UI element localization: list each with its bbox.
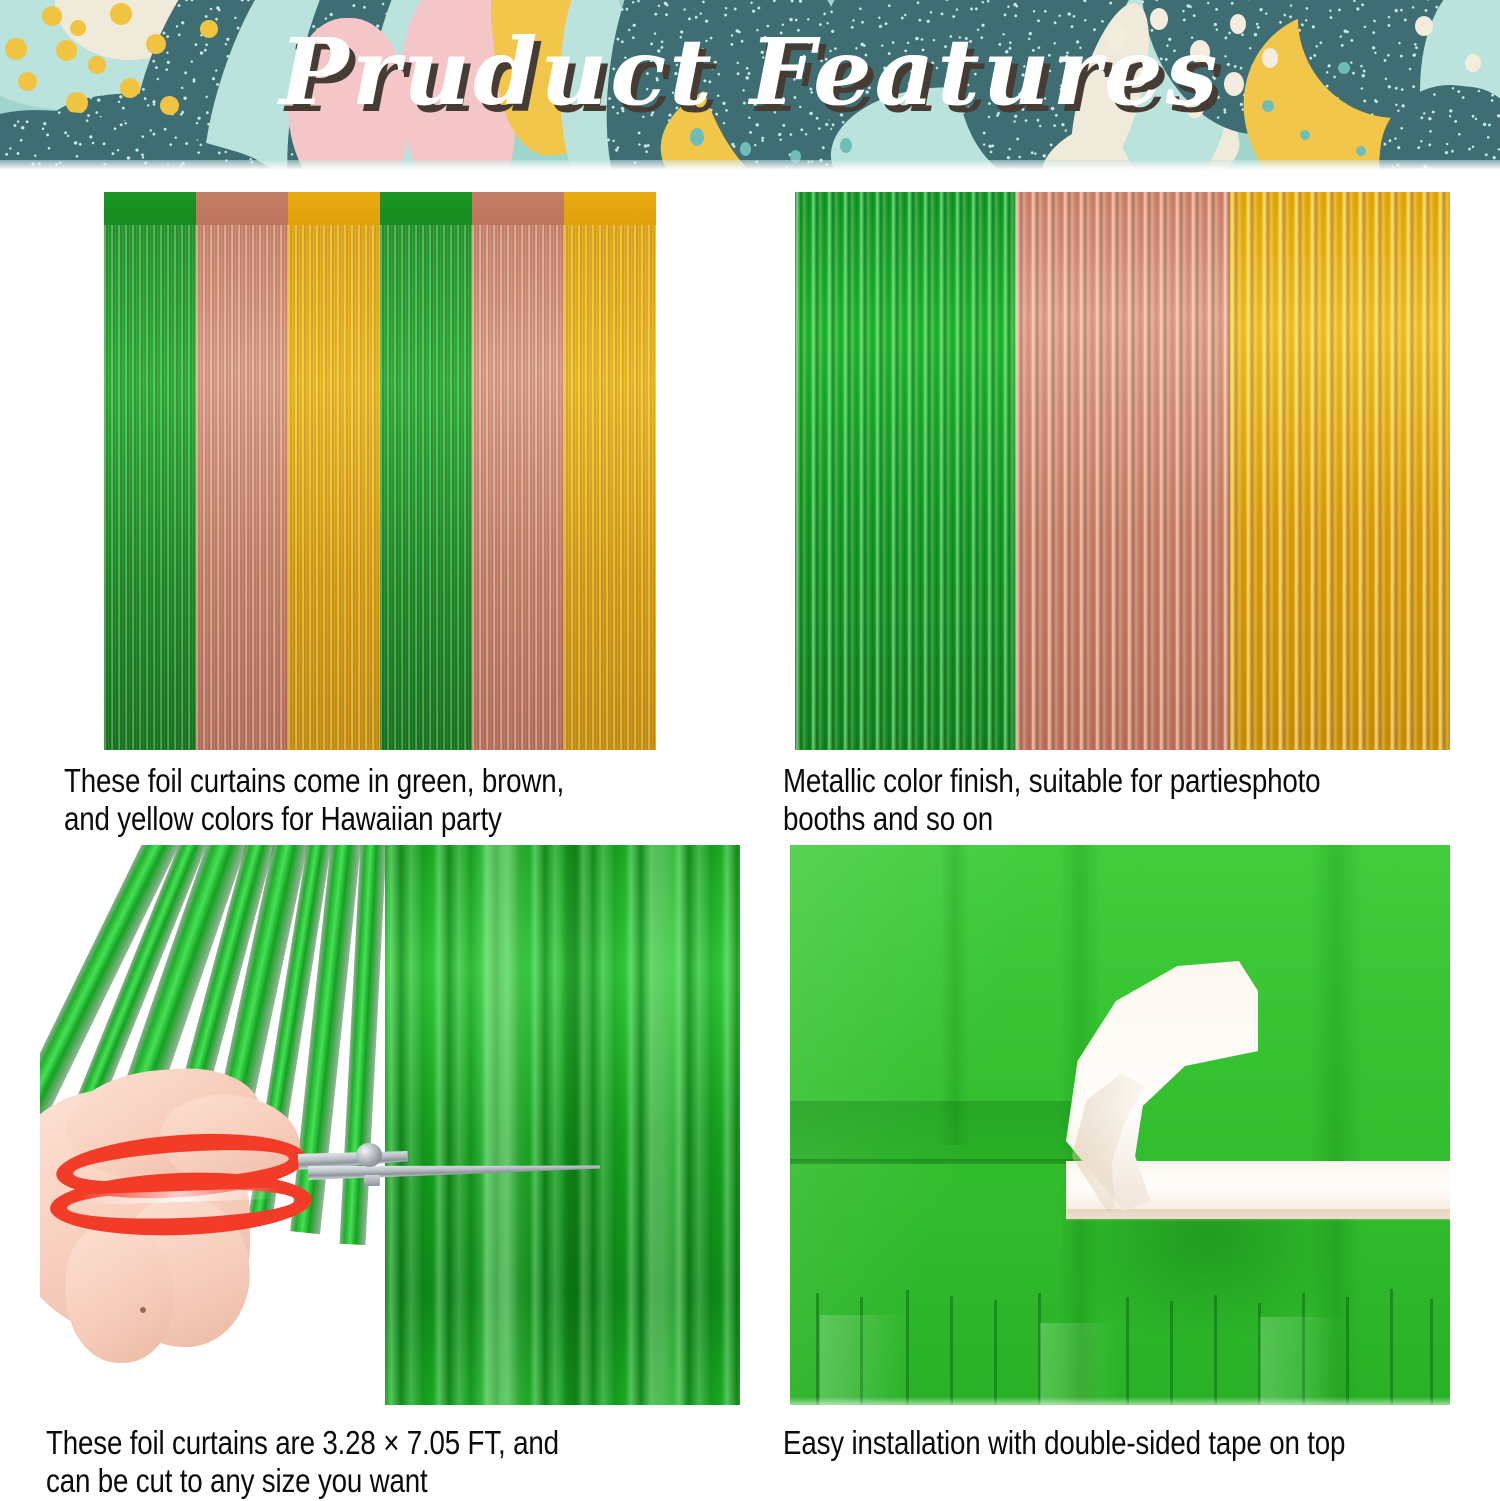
- feature-image-metallic-finish-closeup: [795, 192, 1450, 750]
- foil-vertical-fold: [940, 845, 970, 1145]
- fringe-gloss: [1040, 1323, 1120, 1405]
- curtain-stripe-green-2: [380, 192, 472, 750]
- banner-dot-t-4: [1356, 146, 1366, 156]
- caption-feature-metallic-finish: Metallic color finish, suitable for part…: [783, 762, 1500, 839]
- fringe-slit: [994, 1300, 997, 1405]
- fringe-slit: [1430, 1299, 1433, 1405]
- fringe-curtain-closeup: [795, 192, 1450, 750]
- closeup-stripe-gold: [1230, 192, 1450, 750]
- banner-dot-t-5: [690, 128, 704, 146]
- feature-image-double-sided-tape-on-green-foil: [790, 845, 1450, 1405]
- foil-seam-line: [790, 1159, 1080, 1164]
- stripe-strands: [104, 225, 196, 750]
- curtain-stripe-gold-1: [288, 192, 380, 750]
- fringe-slit: [1170, 1301, 1173, 1405]
- stripe-strands: [196, 225, 288, 750]
- fringe-slit: [1126, 1297, 1129, 1405]
- closeup-stripe-rose: [1015, 192, 1230, 750]
- feature-image-three-color-foil-curtain-panels: [104, 192, 656, 750]
- banner-dot-t-6: [740, 142, 751, 156]
- curtain-stripe-rose-2: [472, 192, 564, 750]
- stripe-strands: [288, 225, 380, 750]
- scissors-pivot-screw: [356, 1143, 382, 1167]
- fringe-slit: [816, 1293, 819, 1405]
- caption-feature-cuttable: These foil curtains are 3.28 × 7.05 FT, …: [46, 1424, 785, 1501]
- header-banner: Pruduct Features: [0, 0, 1500, 170]
- scissors-screw-nut: [364, 1175, 380, 1186]
- caption-feature-colors: These foil curtains come in green, brown…: [64, 762, 753, 839]
- caption-feature-easy-install: Easy installation with double-sided tape…: [783, 1424, 1500, 1462]
- stripe-strands: [472, 225, 564, 750]
- fringe-slit: [1346, 1297, 1349, 1405]
- scissors: [40, 845, 740, 1405]
- stripe-strands: [564, 225, 656, 750]
- fringe-curtain: [104, 192, 656, 750]
- curtain-stripe-rose-1: [196, 192, 288, 750]
- feature-image-hand-cutting-foil-with-scissors: [40, 845, 740, 1405]
- stripe-strands: [1015, 192, 1230, 750]
- stripe-strands: [380, 225, 472, 750]
- page-title: Pruduct Features: [0, 20, 1500, 126]
- fringe-slit: [1214, 1295, 1217, 1405]
- fringe-gloss: [1260, 1317, 1346, 1405]
- stripe-strands: [795, 192, 1015, 750]
- fringe-gloss: [820, 1315, 910, 1405]
- banner-dot-t-8: [840, 138, 852, 153]
- foil-bottom-soft-edge: [790, 1397, 1450, 1405]
- fringe-slit: [950, 1296, 953, 1405]
- curtain-stripe-gold-2: [564, 192, 656, 750]
- foil-header-seam-band: [790, 1101, 1072, 1161]
- banner-dot-t-2: [1300, 130, 1310, 140]
- curtain-stripe-green-1: [104, 192, 196, 750]
- closeup-stripe-green: [795, 192, 1015, 750]
- fringe-slit: [1390, 1289, 1393, 1405]
- banner-bottom-fade: [0, 160, 1500, 170]
- stripe-strands: [1230, 192, 1450, 750]
